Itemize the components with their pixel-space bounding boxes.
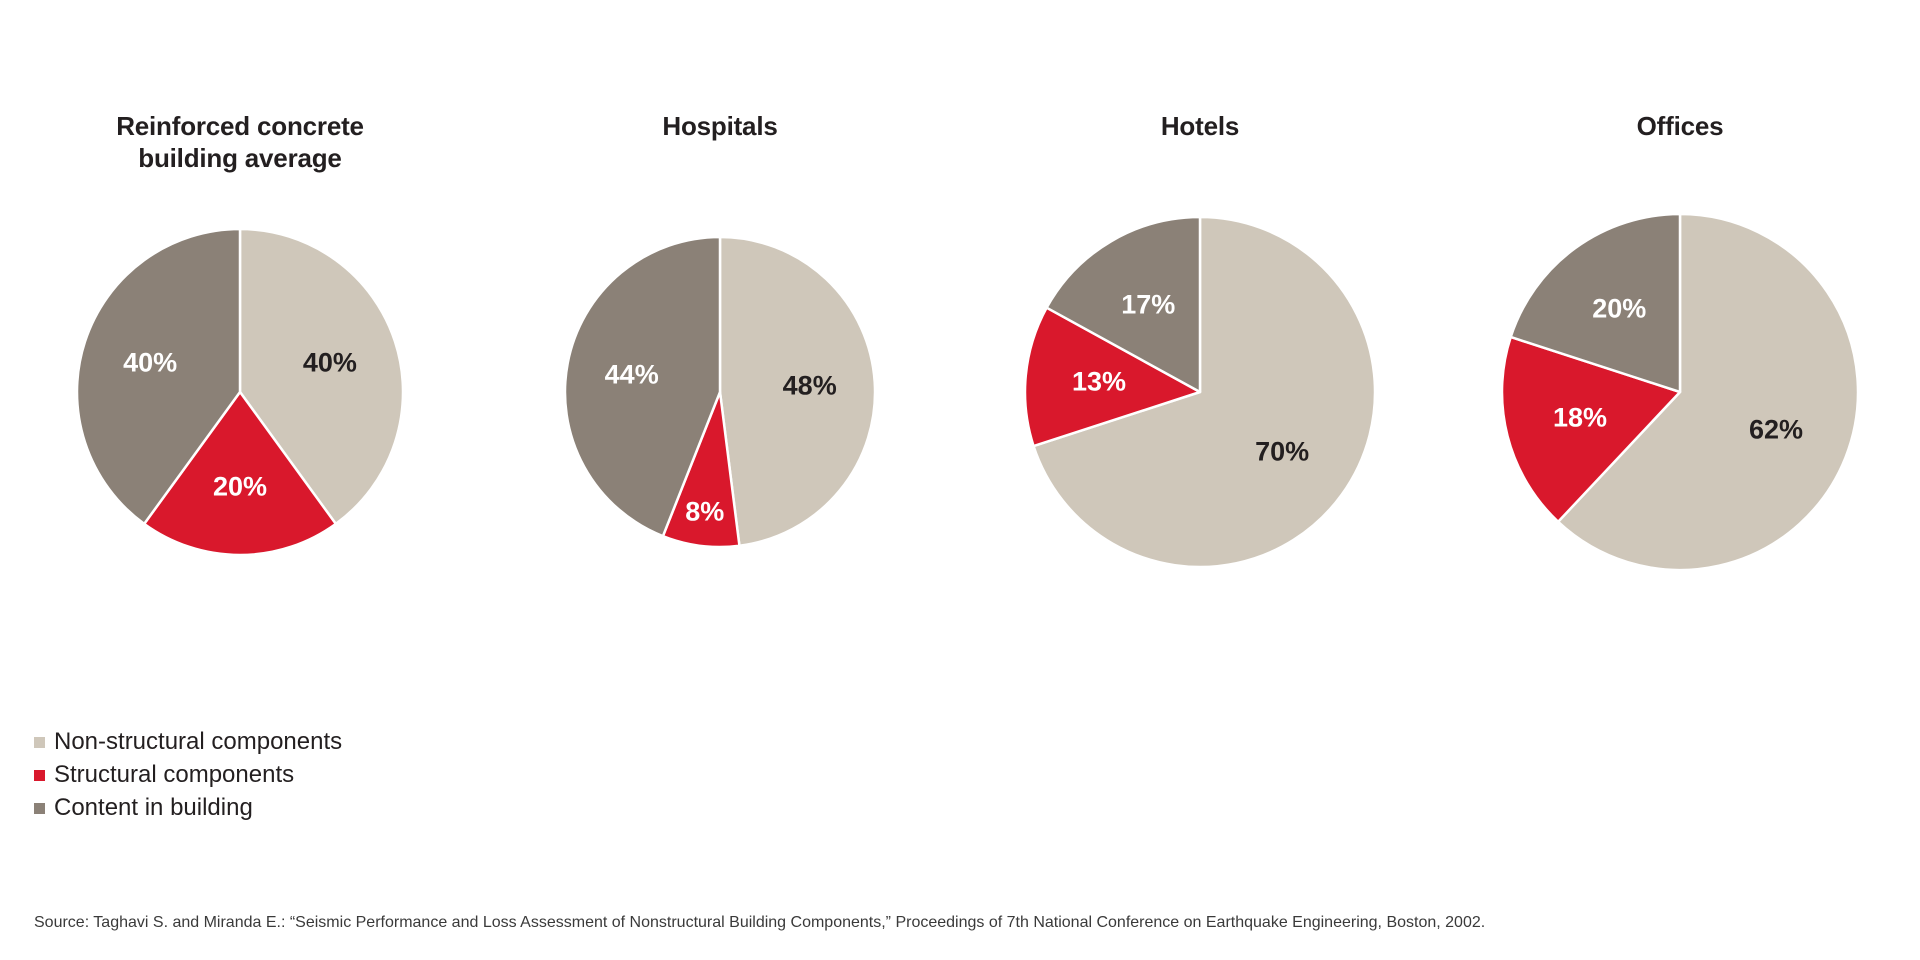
- chart-legend: Non-structural componentsStructural comp…: [34, 728, 342, 822]
- pie-chart-title: Hospitals: [662, 110, 777, 180]
- pie-chart-2: Hospitals48%8%44%: [480, 110, 960, 650]
- pie-chart-title: Offices: [1637, 110, 1724, 180]
- pie-slice-non-structural-components: [720, 237, 875, 546]
- pie-chart-figure: Reinforced concrete building average40%2…: [0, 0, 1920, 960]
- pie-graphic: 40%20%40%: [40, 192, 440, 592]
- legend-item-content-in-building: Content in building: [34, 794, 342, 822]
- legend-swatch-icon: [34, 803, 45, 814]
- pie-chart-title: Reinforced concrete building average: [116, 110, 364, 180]
- pie-graphic: 62%18%20%: [1480, 192, 1880, 592]
- legend-swatch-icon: [34, 737, 45, 748]
- legend-item-label: Structural components: [54, 761, 294, 789]
- pie-graphic: 48%8%44%: [520, 192, 920, 592]
- legend-item-label: Content in building: [54, 794, 253, 822]
- legend-item-structural-components: Structural components: [34, 761, 342, 789]
- legend-item-non-structural-components: Non-structural components: [34, 728, 342, 756]
- legend-swatch-icon: [34, 770, 45, 781]
- pie-chart-title: Hotels: [1161, 110, 1239, 180]
- pie-chart-3: Hotels70%13%17%: [960, 110, 1440, 650]
- pie-graphic: 70%13%17%: [1000, 192, 1400, 592]
- pie-chart-1: Reinforced concrete building average40%2…: [0, 110, 480, 650]
- pie-chart-row: Reinforced concrete building average40%2…: [0, 110, 1920, 650]
- pie-chart-4: Offices62%18%20%: [1440, 110, 1920, 650]
- legend-item-label: Non-structural components: [54, 728, 342, 756]
- source-note: Source: Taghavi S. and Miranda E.: “Seis…: [34, 912, 1485, 934]
